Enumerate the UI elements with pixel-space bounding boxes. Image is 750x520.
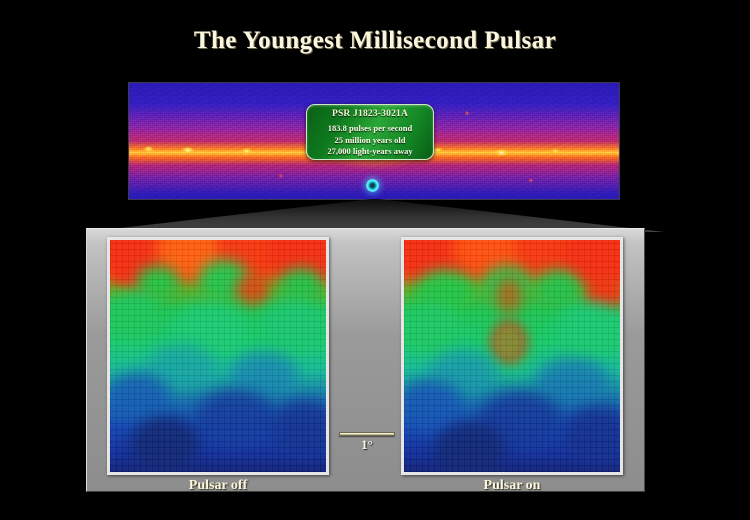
scale-bar-label: 1° — [339, 437, 395, 453]
scale-bar-line — [339, 432, 395, 436]
heatmap-pulsar-off — [107, 237, 329, 475]
callout-object-name: PSR J1823-3021A — [307, 108, 433, 120]
angular-scale-bar: 1° — [339, 432, 395, 453]
caption-pulsar-off: Pulsar off — [107, 478, 329, 494]
detail-panel-frame: 1° Pulsar off Pulsar on — [86, 228, 645, 492]
pulsar-location-marker-icon — [366, 179, 379, 192]
heatmap-on-pixel-grid — [404, 240, 620, 472]
callout-fact: 27,000 light-years away — [307, 146, 433, 158]
callout-fact: 25 million years old — [307, 135, 433, 147]
heatmap-pulsar-on — [401, 237, 623, 475]
poster-canvas: The Youngest Millisecond Pulsar PSR J182… — [0, 0, 750, 520]
page-title: The Youngest Millisecond Pulsar — [0, 27, 750, 55]
callout-fact-list: 183.8 pulses per second 25 million years… — [307, 123, 433, 158]
caption-pulsar-on: Pulsar on — [401, 478, 623, 494]
callout-fact: 183.8 pulses per second — [307, 123, 433, 135]
heatmap-off-pixel-grid — [110, 240, 326, 472]
pulsar-info-callout: PSR J1823-3021A 183.8 pulses per second … — [306, 104, 434, 160]
